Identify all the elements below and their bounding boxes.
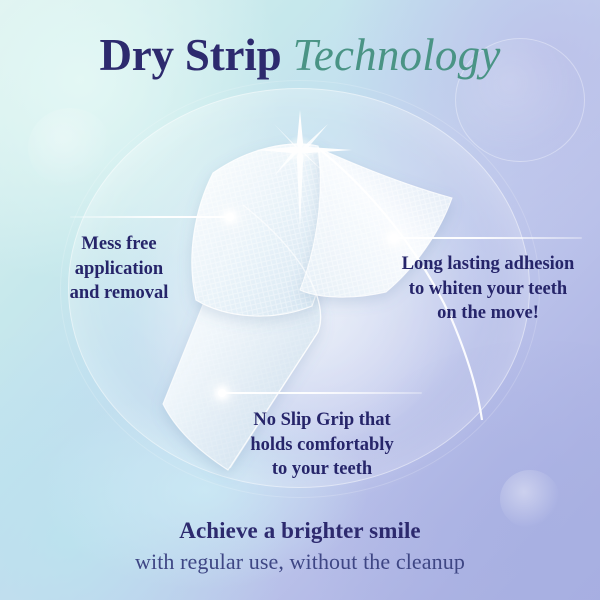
callout-line: and removal [20, 281, 218, 306]
callout-line: No Slip Grip that [216, 408, 428, 433]
callout-line: Mess free [20, 232, 218, 257]
page-title-secondary: Technology [293, 30, 501, 80]
footer-headline: Achieve a brighter smile [0, 518, 600, 544]
callout-line: holds comfortably [216, 433, 428, 458]
callout-no-slip-grip: No Slip Grip that holds comfortably to y… [216, 408, 428, 482]
page-title: Dry Strip Technology [0, 32, 600, 80]
callout-line: to your teeth [216, 457, 428, 482]
callout-line: Long lasting adhesion [382, 252, 594, 277]
callout-line: application [20, 257, 218, 282]
callout-mess-free: Mess free application and removal [20, 232, 218, 306]
footer-subline: with regular use, without the cleanup [0, 549, 600, 575]
promo-poster: Dry Strip Technology Mess free applicati… [0, 0, 600, 600]
callout-line: to whiten your teeth [382, 277, 594, 302]
callout-line: on the move! [382, 301, 594, 326]
callout-long-lasting: Long lasting adhesion to whiten your tee… [382, 252, 594, 326]
page-title-primary: Dry Strip [99, 30, 281, 80]
